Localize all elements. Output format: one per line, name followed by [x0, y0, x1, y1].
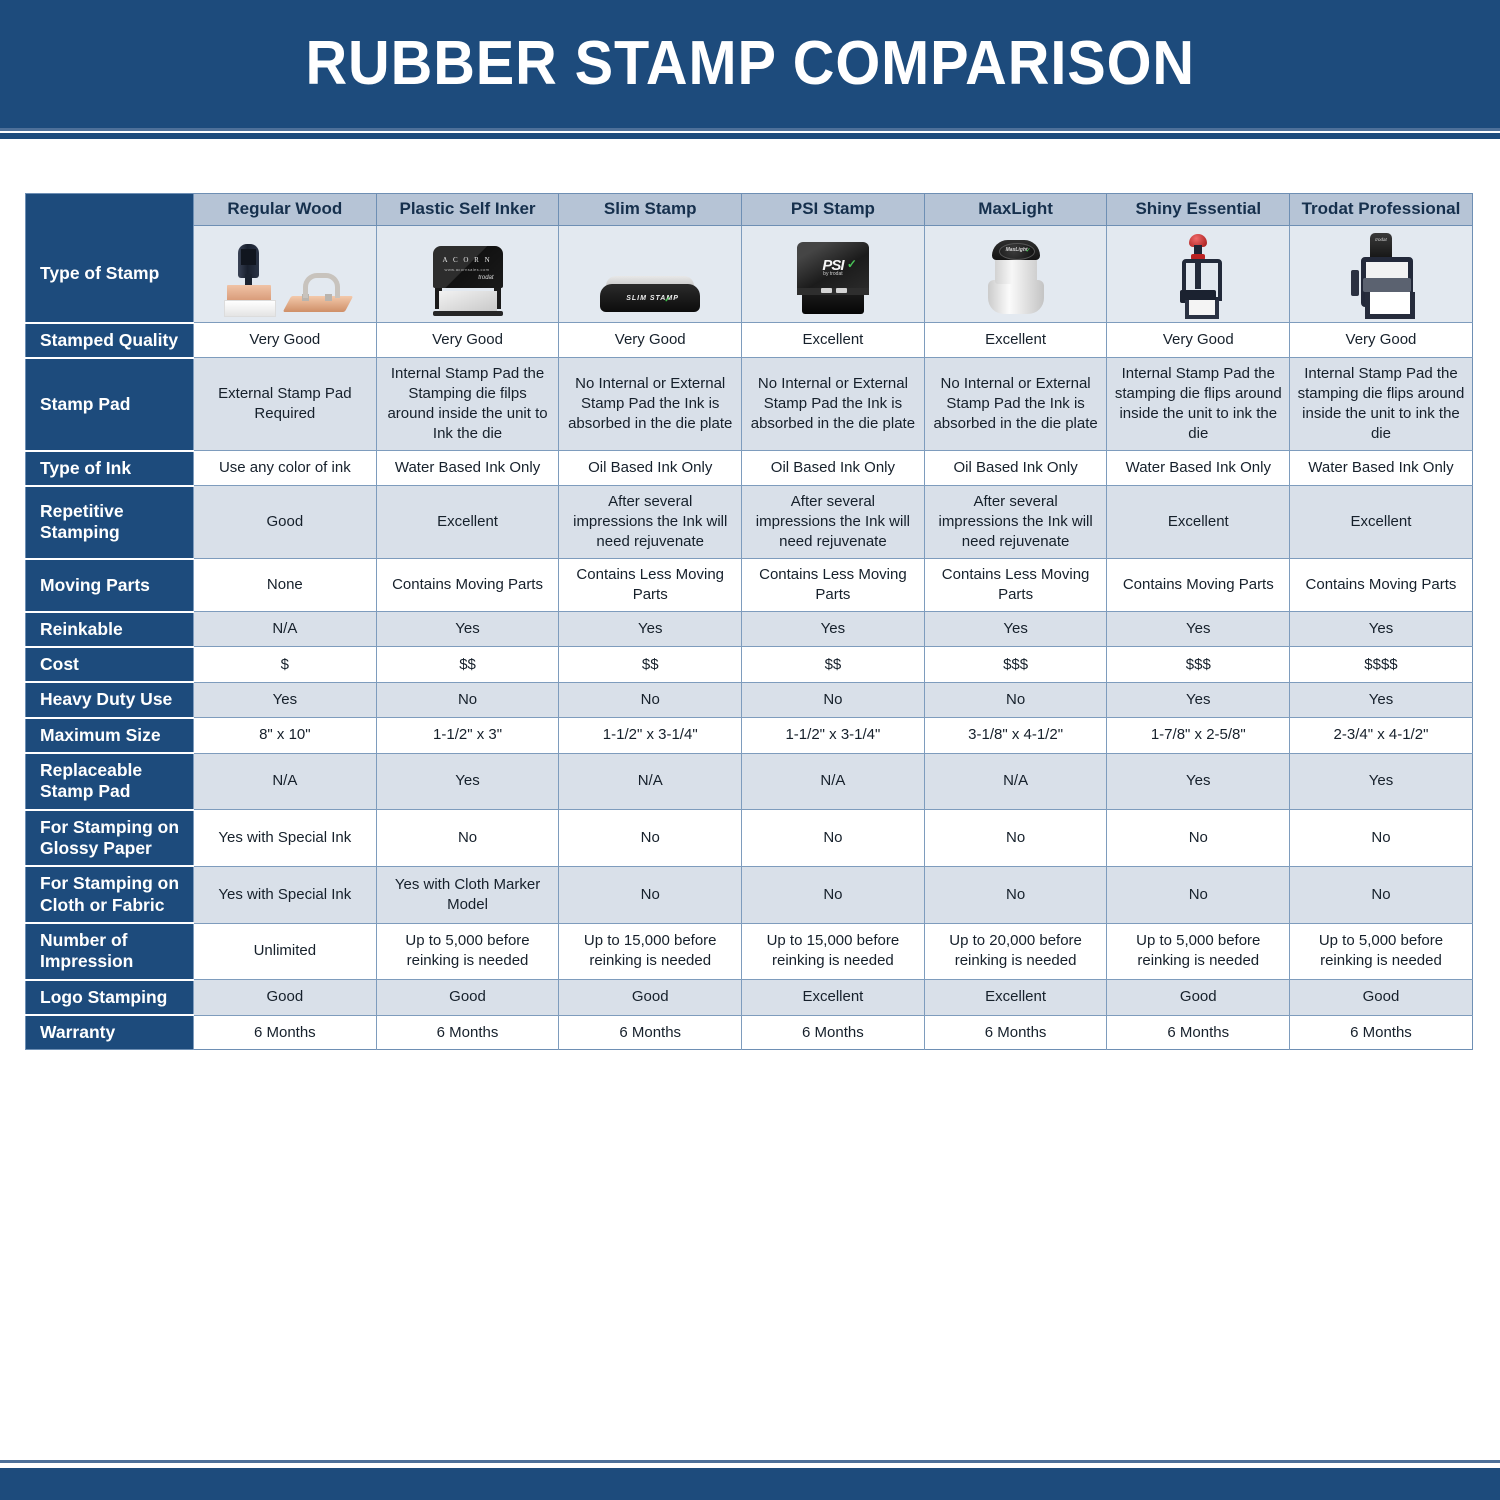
column-header-plastic_self_inker: Plastic Self Inker — [376, 194, 559, 226]
plastic-self-inker-stamp-icon: A C O R Nwww.acornsales.comtrodat — [429, 244, 507, 318]
psi-stamp-icon: PSI✓by trodat — [795, 240, 871, 318]
cell-regular_wood: N/A — [194, 612, 377, 647]
cell-maxlight: Excellent — [924, 980, 1107, 1015]
cell-slim_stamp: SLIM STAMP✓ — [559, 226, 742, 323]
cell-plastic_self_inker: $$ — [376, 647, 559, 682]
cell-psi_stamp: Excellent — [742, 323, 925, 358]
cell-slim_stamp: N/A — [559, 753, 742, 810]
cell-psi_stamp: $$ — [742, 647, 925, 682]
row-label-moving-parts: Moving Parts — [26, 559, 194, 612]
row-label-warranty: Warranty — [26, 1015, 194, 1050]
comparison-table: Regular WoodPlastic Self InkerSlim Stamp… — [25, 193, 1473, 1050]
cell-trodat_professional: No — [1290, 810, 1473, 867]
cell-maxlight: 3-1/8" x 4-1/2" — [924, 718, 1107, 753]
cell-trodat_professional: 6 Months — [1290, 1015, 1473, 1050]
cell-trodat_professional: Very Good — [1290, 323, 1473, 358]
cell-plastic_self_inker: Contains Moving Parts — [376, 559, 559, 612]
cell-shiny_essential: Yes — [1107, 753, 1290, 810]
column-header-slim_stamp: Slim Stamp — [559, 194, 742, 226]
cell-plastic_self_inker: A C O R Nwww.acornsales.comtrodat — [376, 226, 559, 323]
cell-regular_wood: Unlimited — [194, 923, 377, 980]
cell-regular_wood: Yes — [194, 682, 377, 717]
table-row: Number of ImpressionUnlimitedUp to 5,000… — [26, 923, 1473, 980]
table-body: Type of StampA C O R Nwww.acornsales.com… — [26, 226, 1473, 1050]
cell-shiny_essential: No — [1107, 810, 1290, 867]
cell-regular_wood: Yes with Special Ink — [194, 866, 377, 923]
cell-slim_stamp: Very Good — [559, 323, 742, 358]
cell-slim_stamp: No Internal or External Stamp Pad the In… — [559, 358, 742, 451]
cell-trodat_professional: Excellent — [1290, 486, 1473, 559]
table-row: Moving PartsNoneContains Moving PartsCon… — [26, 559, 1473, 612]
header-divider-dark — [0, 133, 1500, 139]
table-row: Cost$$$$$$$$$$$$$$$$$ — [26, 647, 1473, 682]
footer-bar — [0, 1468, 1500, 1500]
cell-trodat_professional: Internal Stamp Pad the stamping die flip… — [1290, 358, 1473, 451]
cell-psi_stamp: Yes — [742, 612, 925, 647]
table-row: Repetitive StampingGoodExcellentAfter se… — [26, 486, 1473, 559]
cell-shiny_essential: Water Based Ink Only — [1107, 451, 1290, 486]
slim-stamp-icon: SLIM STAMP✓ — [598, 274, 702, 318]
cell-plastic_self_inker: No — [376, 810, 559, 867]
cell-maxlight: Contains Less Moving Parts — [924, 559, 1107, 612]
row-label-number-of-impression: Number of Impression — [26, 923, 194, 980]
row-label-reinkable: Reinkable — [26, 612, 194, 647]
row-label-stamp-pad: Stamp Pad — [26, 358, 194, 451]
cell-maxlight: After several impressions the Ink will n… — [924, 486, 1107, 559]
cell-plastic_self_inker: Good — [376, 980, 559, 1015]
cell-plastic_self_inker: Yes — [376, 612, 559, 647]
cell-trodat_professional: Yes — [1290, 612, 1473, 647]
cell-regular_wood: Use any color of ink — [194, 451, 377, 486]
cell-slim_stamp: $$ — [559, 647, 742, 682]
cell-psi_stamp: N/A — [742, 753, 925, 810]
cell-maxlight: No — [924, 682, 1107, 717]
cell-shiny_essential: No — [1107, 866, 1290, 923]
cell-slim_stamp: After several impressions the Ink will n… — [559, 486, 742, 559]
cell-regular_wood: 8" x 10" — [194, 718, 377, 753]
cell-plastic_self_inker: 1-1/2" x 3" — [376, 718, 559, 753]
page-title: RUBBER STAMP COMPARISON — [305, 33, 1195, 95]
header-bar: RUBBER STAMP COMPARISON — [0, 0, 1500, 128]
table-row: Replaceable Stamp PadN/AYesN/AN/AN/AYesY… — [26, 753, 1473, 810]
cell-shiny_essential: Excellent — [1107, 486, 1290, 559]
cell-trodat_professional: Yes — [1290, 753, 1473, 810]
row-label-type-of-stamp: Type of Stamp — [26, 226, 194, 323]
cell-slim_stamp: 6 Months — [559, 1015, 742, 1050]
cell-slim_stamp: No — [559, 682, 742, 717]
cell-maxlight: N/A — [924, 753, 1107, 810]
cell-regular_wood: Very Good — [194, 323, 377, 358]
cell-regular_wood — [194, 226, 377, 323]
cell-maxlight: Yes — [924, 612, 1107, 647]
row-label-replaceable-stamp-pad: Replaceable Stamp Pad — [26, 753, 194, 810]
trodat-professional-stamp-icon: trodat — [1345, 232, 1417, 318]
cell-trodat_professional: Good — [1290, 980, 1473, 1015]
cell-shiny_essential: Up to 5,000 before reinking is needed — [1107, 923, 1290, 980]
cell-psi_stamp: 6 Months — [742, 1015, 925, 1050]
cell-shiny_essential: Yes — [1107, 612, 1290, 647]
cell-psi_stamp: Contains Less Moving Parts — [742, 559, 925, 612]
table-row: For Stamping on Cloth or FabricYes with … — [26, 866, 1473, 923]
cell-psi_stamp: After several impressions the Ink will n… — [742, 486, 925, 559]
cell-trodat_professional: 2-3/4" x 4-1/2" — [1290, 718, 1473, 753]
table-row: Type of StampA C O R Nwww.acornsales.com… — [26, 226, 1473, 323]
cell-shiny_essential: 6 Months — [1107, 1015, 1290, 1050]
cell-shiny_essential: 1-7/8" x 2-5/8" — [1107, 718, 1290, 753]
cell-maxlight: MaxLight✓ — [924, 226, 1107, 323]
row-label-logo-stamping: Logo Stamping — [26, 980, 194, 1015]
table-head: Regular WoodPlastic Self InkerSlim Stamp… — [26, 194, 1473, 226]
cell-maxlight: $$$ — [924, 647, 1107, 682]
column-header-regular_wood: Regular Wood — [194, 194, 377, 226]
cell-psi_stamp: 1-1/2" x 3-1/4" — [742, 718, 925, 753]
cell-slim_stamp: 1-1/2" x 3-1/4" — [559, 718, 742, 753]
cell-plastic_self_inker: Internal Stamp Pad the Stamping die filp… — [376, 358, 559, 451]
cell-psi_stamp: PSI✓by trodat — [742, 226, 925, 323]
cell-plastic_self_inker: Yes with Cloth Marker Model — [376, 866, 559, 923]
row-label-cost: Cost — [26, 647, 194, 682]
cell-psi_stamp: Up to 15,000 before reinking is needed — [742, 923, 925, 980]
cell-plastic_self_inker: Water Based Ink Only — [376, 451, 559, 486]
cell-plastic_self_inker: 6 Months — [376, 1015, 559, 1050]
row-label-for-stamping-on-cloth-or-fabric: For Stamping on Cloth or Fabric — [26, 866, 194, 923]
table-row: Logo StampingGoodGoodGoodExcellentExcell… — [26, 980, 1473, 1015]
shiny-essential-stamp-icon — [1172, 234, 1224, 318]
table-row: Stamped QualityVery GoodVery GoodVery Go… — [26, 323, 1473, 358]
column-header-maxlight: MaxLight — [924, 194, 1107, 226]
cell-psi_stamp: Oil Based Ink Only — [742, 451, 925, 486]
cell-maxlight: No — [924, 810, 1107, 867]
cell-plastic_self_inker: Excellent — [376, 486, 559, 559]
cell-maxlight: Excellent — [924, 323, 1107, 358]
cell-slim_stamp: No — [559, 866, 742, 923]
maxlight-round-stamp-icon: MaxLight✓ — [983, 238, 1049, 318]
cell-trodat_professional: trodat — [1290, 226, 1473, 323]
row-label-stamped-quality: Stamped Quality — [26, 323, 194, 358]
cell-shiny_essential: Yes — [1107, 682, 1290, 717]
cell-plastic_self_inker: No — [376, 682, 559, 717]
cell-slim_stamp: No — [559, 810, 742, 867]
column-header-shiny_essential: Shiny Essential — [1107, 194, 1290, 226]
table-header-row: Regular WoodPlastic Self InkerSlim Stamp… — [26, 194, 1473, 226]
table-row: Stamp PadExternal Stamp Pad RequiredInte… — [26, 358, 1473, 451]
cell-regular_wood: Good — [194, 980, 377, 1015]
cell-maxlight: 6 Months — [924, 1015, 1107, 1050]
row-label-maximum-size: Maximum Size — [26, 718, 194, 753]
cell-psi_stamp: Excellent — [742, 980, 925, 1015]
table-row: ReinkableN/AYesYesYesYesYesYes — [26, 612, 1473, 647]
table-corner-cell — [26, 194, 194, 226]
cell-maxlight: Up to 20,000 before reinking is needed — [924, 923, 1107, 980]
row-label-repetitive-stamping: Repetitive Stamping — [26, 486, 194, 559]
comparison-table-wrapper: Regular WoodPlastic Self InkerSlim Stamp… — [25, 193, 1472, 1050]
column-header-trodat_professional: Trodat Professional — [1290, 194, 1473, 226]
header-divider-light — [0, 128, 1500, 131]
cell-slim_stamp: Contains Less Moving Parts — [559, 559, 742, 612]
cell-shiny_essential: Very Good — [1107, 323, 1290, 358]
wood-handle-plate-icon — [287, 256, 349, 318]
cell-regular_wood: Good — [194, 486, 377, 559]
cell-slim_stamp: Good — [559, 980, 742, 1015]
cell-regular_wood: $ — [194, 647, 377, 682]
cell-shiny_essential — [1107, 226, 1290, 323]
table-row: Maximum Size8" x 10"1-1/2" x 3"1-1/2" x … — [26, 718, 1473, 753]
cell-trodat_professional: Contains Moving Parts — [1290, 559, 1473, 612]
cell-psi_stamp: No Internal or External Stamp Pad the In… — [742, 358, 925, 451]
cell-slim_stamp: Up to 15,000 before reinking is needed — [559, 923, 742, 980]
row-label-for-stamping-on-glossy-paper: For Stamping on Glossy Paper — [26, 810, 194, 867]
cell-maxlight: No — [924, 866, 1107, 923]
cell-slim_stamp: Yes — [559, 612, 742, 647]
cell-psi_stamp: No — [742, 682, 925, 717]
cell-psi_stamp: No — [742, 810, 925, 867]
cell-shiny_essential: Internal Stamp Pad the stamping die flip… — [1107, 358, 1290, 451]
row-label-type-of-ink: Type of Ink — [26, 451, 194, 486]
cell-regular_wood: None — [194, 559, 377, 612]
footer-divider-light — [0, 1460, 1500, 1463]
table-row: Heavy Duty UseYesNoNoNoNoYesYes — [26, 682, 1473, 717]
cell-plastic_self_inker: Very Good — [376, 323, 559, 358]
cell-slim_stamp: Oil Based Ink Only — [559, 451, 742, 486]
cell-trodat_professional: $$$$ — [1290, 647, 1473, 682]
table-row: For Stamping on Glossy PaperYes with Spe… — [26, 810, 1473, 867]
row-label-heavy-duty-use: Heavy Duty Use — [26, 682, 194, 717]
cell-shiny_essential: Good — [1107, 980, 1290, 1015]
column-header-psi_stamp: PSI Stamp — [742, 194, 925, 226]
cell-plastic_self_inker: Up to 5,000 before reinking is needed — [376, 923, 559, 980]
cell-trodat_professional: Up to 5,000 before reinking is needed — [1290, 923, 1473, 980]
cell-psi_stamp: No — [742, 866, 925, 923]
comparison-infographic: RUBBER STAMP COMPARISON Regular WoodPlas… — [0, 0, 1500, 1500]
cell-plastic_self_inker: Yes — [376, 753, 559, 810]
cell-trodat_professional: Yes — [1290, 682, 1473, 717]
table-row: Warranty6 Months6 Months6 Months6 Months… — [26, 1015, 1473, 1050]
cell-maxlight: No Internal or External Stamp Pad the In… — [924, 358, 1107, 451]
cell-trodat_professional: No — [1290, 866, 1473, 923]
cell-regular_wood: External Stamp Pad Required — [194, 358, 377, 451]
table-row: Type of InkUse any color of inkWater Bas… — [26, 451, 1473, 486]
cell-maxlight: Oil Based Ink Only — [924, 451, 1107, 486]
cell-trodat_professional: Water Based Ink Only — [1290, 451, 1473, 486]
cell-shiny_essential: Contains Moving Parts — [1107, 559, 1290, 612]
cell-regular_wood: N/A — [194, 753, 377, 810]
cell-regular_wood: Yes with Special Ink — [194, 810, 377, 867]
wood-handle-stamp-icon — [221, 240, 277, 318]
cell-shiny_essential: $$$ — [1107, 647, 1290, 682]
cell-regular_wood: 6 Months — [194, 1015, 377, 1050]
